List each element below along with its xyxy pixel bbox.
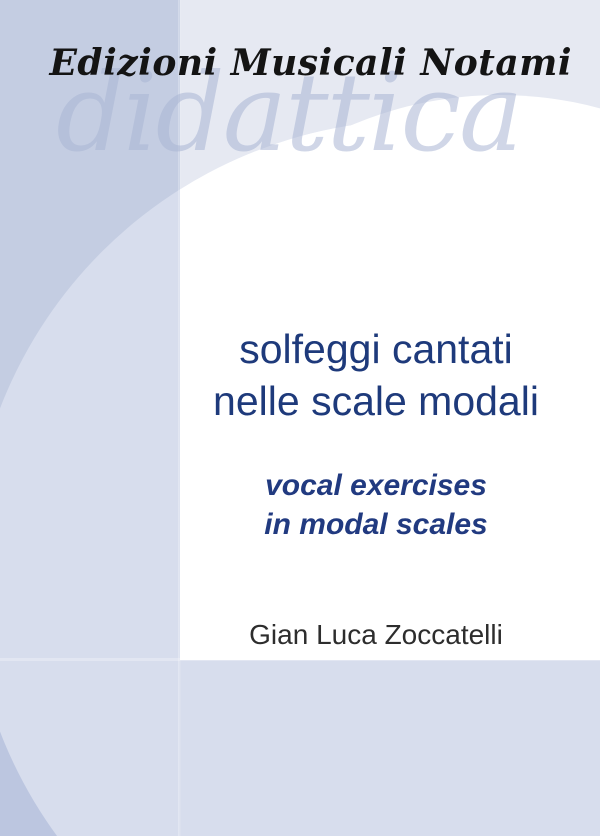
author-block: Gian Luca Zoccatelli [180, 618, 572, 652]
subtitle-line-1: vocal exercises [180, 466, 572, 505]
subtitle-block: vocal exercises in modal scales [180, 466, 572, 544]
title-line-2: nelle scale modali [180, 376, 572, 428]
background-horizontal-seam [0, 658, 600, 661]
subtitle-line-2: in modal scales [180, 505, 572, 544]
publisher-name: Edizioni Musicali Notami [0, 44, 572, 84]
book-cover: didattica Edizioni Musicali Notami solfe… [0, 0, 600, 836]
title-block: solfeggi cantati nelle scale modali [180, 324, 572, 427]
author-name: Gian Luca Zoccatelli [180, 618, 572, 652]
title-line-1: solfeggi cantati [180, 324, 572, 376]
